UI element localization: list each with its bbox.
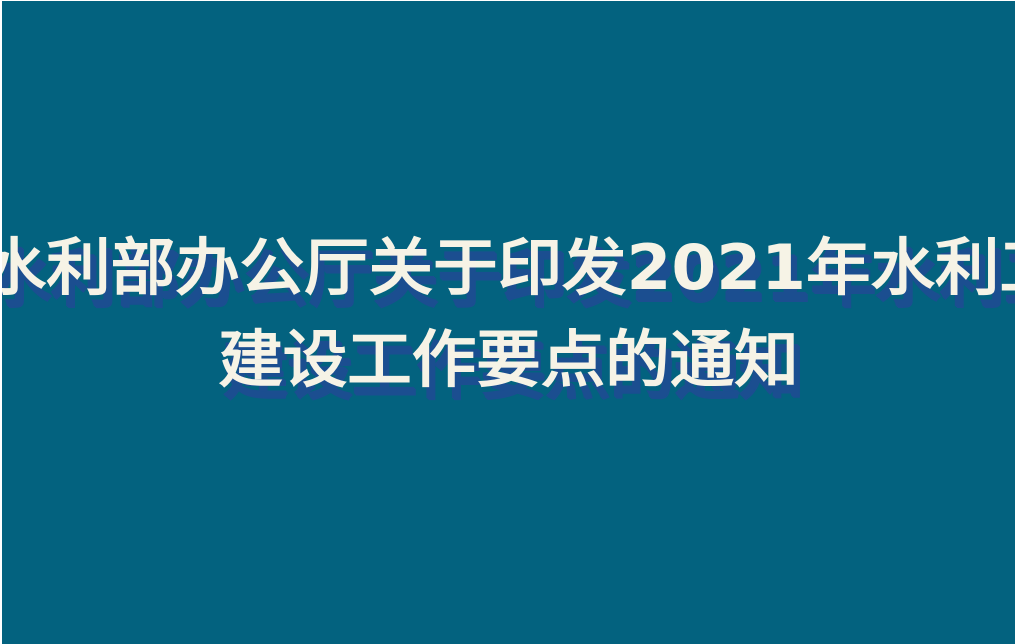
title-banner: 水利部办公厅关于印发2021年水利工程 建设工作要点的通知 <box>0 0 1017 644</box>
banner-title-block: 水利部办公厅关于印发2021年水利工程 建设工作要点的通知 <box>2 237 1015 391</box>
banner-title-line-2: 建设工作要点的通知 <box>0 329 1017 391</box>
banner-title-line-1: 水利部办公厅关于印发2021年水利工程 <box>0 237 1017 299</box>
